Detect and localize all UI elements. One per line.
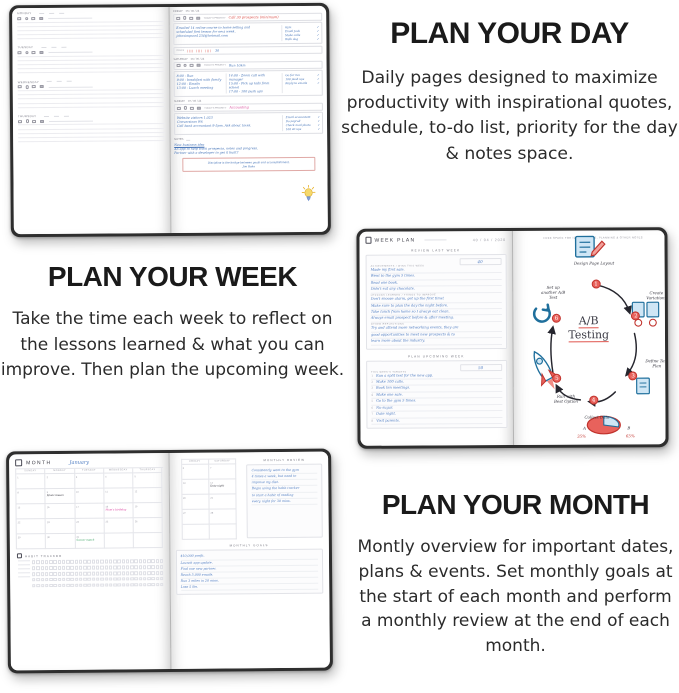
habit-cell[interactable] — [105, 577, 108, 581]
habit-row[interactable] — [32, 565, 164, 570]
habit-cell[interactable] — [88, 572, 91, 576]
date-number: 8 — [17, 492, 18, 495]
habit-cell[interactable] — [117, 577, 120, 581]
habit-cell[interactable] — [62, 583, 65, 587]
habit-cell[interactable] — [45, 566, 48, 570]
target-item[interactable]: Visit parents. — [371, 418, 502, 425]
habit-cell[interactable] — [143, 571, 146, 575]
habit-cell[interactable] — [122, 583, 125, 587]
monthly-goals-box: $10,000 profit.Launch app update.Find on… — [175, 549, 323, 595]
habit-cell[interactable] — [75, 572, 78, 576]
targets-card: 50 THIS WEEK'S TARGETS Run a split test … — [366, 360, 507, 429]
habit-cell[interactable] — [70, 572, 73, 576]
habit-cell[interactable] — [105, 583, 108, 587]
calendar-cell[interactable]: 17 — [75, 504, 104, 519]
date-number: 25 — [106, 521, 109, 524]
plan-your-month-heading: PLAN YOUR MONTH — [352, 490, 679, 519]
habit-cell[interactable] — [100, 583, 103, 587]
step-6-label: Set up another A/B Test — [538, 284, 568, 299]
habit-cell[interactable] — [92, 560, 95, 564]
habit-cell[interactable] — [58, 578, 61, 582]
review-card: 40 ACHIEVEMENTS / WINS THIS WEEK Made my… — [366, 254, 507, 349]
checkmark-icon[interactable]: ✓ — [317, 37, 320, 41]
habit-cell[interactable] — [113, 566, 116, 570]
habit-cell[interactable] — [117, 566, 120, 570]
habit-cell[interactable] — [53, 560, 56, 564]
day-row: WEDNESDAY — [13, 76, 170, 108]
habit-cell[interactable] — [100, 577, 103, 581]
habit-row[interactable] — [32, 577, 164, 582]
priority-label: TODAY'S PRIORITY — [204, 16, 226, 19]
calendar-cell[interactable]: 16 — [46, 504, 75, 519]
step-5-label: Run with Best Option — [554, 393, 578, 403]
habit-cell[interactable] — [83, 560, 86, 564]
habit-cell[interactable] — [100, 560, 103, 564]
calendar-cell[interactable]: 31Soccer match — [75, 534, 104, 549]
habit-cell[interactable] — [113, 577, 116, 581]
daily-notes-section: NOTES New business idea An app to help t… — [174, 137, 323, 155]
habit-cell[interactable] — [139, 583, 142, 587]
habit-cell[interactable] — [152, 571, 155, 575]
calendar-cell[interactable] — [134, 533, 163, 548]
calendar-cell[interactable]: 13 — [182, 480, 210, 495]
habit-cell[interactable] — [113, 583, 116, 587]
habit-cell[interactable] — [126, 560, 129, 564]
habit-cell[interactable] — [156, 559, 159, 563]
calendar-cell[interactable]: 11 — [104, 489, 133, 504]
habit-cell[interactable] — [135, 577, 138, 581]
todo-item[interactable]: Reply to emails — [285, 81, 307, 85]
habit-cell[interactable] — [62, 560, 65, 564]
calendar-cell[interactable]: 28 — [209, 510, 237, 525]
calendar-cell[interactable]: 25 — [105, 519, 134, 534]
schedule-item: 17:00 - 100 push ups — [229, 89, 279, 93]
quote-author: Jim Rohn — [185, 164, 312, 169]
habit-cell[interactable] — [75, 566, 78, 570]
habit-cell[interactable] — [105, 566, 108, 570]
habit-cell[interactable] — [49, 560, 52, 564]
habit-cell[interactable] — [32, 578, 35, 582]
calendar-icon — [39, 51, 43, 54]
habit-cell[interactable] — [32, 561, 35, 565]
habit-cell[interactable] — [147, 565, 150, 569]
entry-date: 05 / 06 / 24 — [186, 10, 199, 13]
lightbulb-icon — [302, 185, 316, 202]
date-number: 11 — [105, 491, 108, 494]
habit-cell[interactable] — [109, 560, 112, 564]
week-plan-date: 40 / 04 / 2020 — [473, 238, 506, 242]
habit-cell[interactable] — [45, 560, 48, 564]
mood-icon — [183, 16, 186, 19]
habit-cell[interactable] — [113, 571, 116, 575]
habit-cell[interactable] — [135, 583, 138, 587]
step-1-label: Design Page Layout — [573, 260, 615, 265]
mood-icon — [25, 51, 28, 54]
habit-cell[interactable] — [96, 583, 99, 587]
calendar-cell[interactable]: 4 — [104, 474, 133, 489]
habit-cell[interactable] — [54, 583, 57, 587]
plan-your-week-heading: PLAN YOUR WEEK — [0, 262, 345, 291]
date-number: 12 — [135, 491, 138, 494]
checkmark-icon[interactable]: ✓ — [317, 81, 320, 85]
date-number: 5 — [134, 476, 135, 479]
date-number: 6 — [183, 467, 184, 470]
handwritten-line: Didn't eat any chocolate. — [371, 286, 502, 293]
monthly-review-box: Consistently went to the gym4 times a we… — [247, 464, 323, 539]
weather-icon — [176, 17, 180, 20]
habit-cell[interactable] — [66, 572, 69, 576]
habit-cell[interactable] — [156, 577, 159, 581]
habit-cell[interactable] — [36, 584, 39, 588]
todo-item[interactable]: 100 sit ups — [286, 127, 302, 131]
day-name: THURSDAY — [18, 114, 36, 118]
habit-cell[interactable] — [66, 560, 69, 564]
notes-label: NOTES — [174, 138, 183, 141]
day-name: TUESDAY — [17, 45, 33, 49]
date-number: 26 — [135, 521, 138, 524]
habit-cell[interactable] — [147, 583, 150, 587]
habit-cell[interactable] — [36, 572, 39, 576]
month-right-page: FRIDAYSATURDAY671314Date night20212728 M… — [169, 452, 330, 669]
habit-cell[interactable] — [130, 565, 133, 569]
calendar-cell[interactable]: 27 — [182, 510, 210, 525]
habit-cell[interactable] — [122, 566, 125, 570]
habit-cell[interactable] — [156, 565, 159, 569]
habit-cell[interactable] — [134, 571, 137, 575]
week-planner-photo: WEEK PLAN 40 / 04 / 2020 REVIEW LAST WEE… — [356, 227, 668, 449]
habit-cell[interactable] — [147, 560, 150, 564]
date-number: 4 — [105, 476, 106, 479]
habit-cell[interactable] — [126, 571, 129, 575]
calendar-cell[interactable] — [210, 525, 238, 540]
habit-cell[interactable] — [79, 583, 82, 587]
habit-cell[interactable] — [92, 577, 95, 581]
priority-label: TODAY'S PRIORITY — [204, 106, 226, 109]
calendar-cell[interactable]: 18Mum's birthday — [104, 504, 133, 519]
habit-cell[interactable] — [96, 560, 99, 564]
habit-cell[interactable] — [156, 583, 159, 587]
week-plan-title: WEEK PLAN — [374, 237, 415, 243]
calendar-cell[interactable]: 20 — [182, 495, 210, 510]
calendar-cell[interactable]: 1 — [16, 474, 45, 489]
date-number: 3 — [76, 476, 77, 479]
calendar-cell[interactable]: 23 — [46, 519, 75, 534]
calendar-cell[interactable]: 7 — [209, 465, 237, 480]
habit-cell[interactable] — [36, 561, 39, 565]
mood-icon — [25, 120, 28, 123]
calendar-event: Mum's birthday — [105, 510, 131, 513]
habit-cell[interactable] — [139, 565, 142, 569]
habit-cell[interactable] — [143, 560, 146, 564]
calendar-cell[interactable]: 12 — [134, 488, 163, 503]
habit-cell[interactable] — [160, 577, 163, 581]
review-line: every night for 30 mins. — [252, 498, 318, 505]
plan-your-month-body: Montly overview for important dates, pla… — [352, 535, 679, 658]
habit-cell[interactable] — [134, 560, 137, 564]
habit-cell[interactable] — [96, 577, 99, 581]
habit-cell[interactable] — [147, 571, 150, 575]
habit-cell[interactable] — [87, 566, 90, 570]
calendar-cell[interactable]: 19 — [134, 503, 163, 518]
habit-cell[interactable] — [109, 577, 112, 581]
habit-cell[interactable] — [160, 571, 163, 575]
habit-cell[interactable] — [49, 572, 52, 576]
habit-cell[interactable] — [100, 566, 103, 570]
habit-cell[interactable] — [32, 584, 35, 588]
habit-cell[interactable] — [36, 566, 39, 570]
calendar-cell[interactable]: 30 — [46, 534, 75, 549]
handwritten-line: learn more about the industry. — [371, 338, 502, 345]
habit-cell[interactable] — [75, 583, 78, 587]
habit-cell[interactable] — [62, 578, 65, 582]
habit-cell[interactable] — [45, 572, 48, 576]
habit-cell[interactable] — [117, 571, 120, 575]
habit-cell[interactable] — [49, 578, 52, 582]
calendar-cell[interactable]: 15 — [17, 504, 46, 519]
habit-cell[interactable] — [70, 566, 73, 570]
habit-cell[interactable] — [88, 577, 91, 581]
habit-cell[interactable] — [160, 559, 163, 563]
calendar-cell[interactable] — [105, 534, 134, 549]
calendar-cell[interactable]: 2 — [46, 474, 75, 489]
calls-label: CALLS — [176, 49, 184, 52]
habit-cell[interactable] — [96, 572, 99, 576]
habit-cell[interactable] — [147, 577, 150, 581]
date-number: 22 — [18, 522, 21, 525]
date-number: 17 — [76, 506, 79, 509]
phone-icon — [32, 17, 36, 20]
review-last-week-title: REVIEW LAST WEEK — [360, 248, 513, 253]
habit-cell[interactable] — [32, 572, 35, 576]
habit-tracker-grid — [32, 559, 164, 587]
calendar-cell[interactable]: 5 — [133, 473, 162, 488]
habit-cell[interactable] — [134, 565, 137, 569]
calls-count: 30 — [215, 48, 219, 52]
habit-cell[interactable] — [160, 565, 163, 569]
calendar-cell[interactable]: 29 — [17, 534, 46, 549]
habit-row[interactable] — [32, 559, 164, 564]
calendar-cell[interactable]: 24 — [75, 519, 104, 534]
weather-icon — [17, 51, 21, 54]
habit-cell[interactable] — [83, 577, 86, 581]
habit-cell[interactable] — [79, 572, 82, 576]
calendar-icon — [39, 17, 43, 20]
habit-cell[interactable] — [88, 583, 91, 587]
habit-cell[interactable] — [71, 578, 74, 582]
month-calendar-right: FRIDAYSATURDAY671314Date night20212728 — [181, 458, 238, 540]
calendar-cell[interactable]: 10 — [75, 489, 104, 504]
calendar-cell[interactable] — [182, 525, 210, 540]
habit-cell[interactable] — [151, 565, 154, 569]
calendar-cell[interactable]: 8 — [16, 489, 45, 504]
day-row: MONDAY — [12, 7, 169, 39]
ab-testing-sketch: A/B Testing 1 2 3 4 5 6 Design Page Layo… — [512, 230, 666, 445]
habit-cell[interactable] — [71, 583, 74, 587]
habit-names — [18, 561, 30, 581]
date-number: 21 — [210, 497, 213, 500]
calendar-cell[interactable]: 9Music lesson — [46, 489, 75, 504]
habit-cell[interactable] — [109, 566, 112, 570]
habit-cell[interactable] — [105, 571, 108, 575]
habit-cell[interactable] — [79, 577, 82, 581]
habit-cell[interactable] — [66, 566, 69, 570]
habit-cell[interactable] — [122, 571, 125, 575]
calendar-cell[interactable]: 3 — [75, 474, 104, 489]
habit-cell[interactable] — [130, 571, 133, 575]
calendar-cell[interactable]: 6 — [182, 465, 210, 480]
habit-cell[interactable] — [109, 583, 112, 587]
habit-cell[interactable] — [41, 584, 44, 588]
habit-cell[interactable] — [66, 583, 69, 587]
habit-cell[interactable] — [156, 571, 159, 575]
habit-cell[interactable] — [130, 577, 133, 581]
mood-icon — [184, 64, 187, 67]
habit-cell[interactable] — [58, 560, 61, 564]
habit-cell[interactable] — [49, 584, 52, 588]
habit-cell[interactable] — [45, 578, 48, 582]
day-name: MONDAY — [17, 11, 31, 15]
date-number: 28 — [210, 512, 213, 515]
habit-cell[interactable] — [79, 566, 82, 570]
entry-day: FRIDAY — [173, 10, 183, 13]
daily-left-page: MONDAYTUESDAYWEDNESDAYTHURSDAY — [12, 7, 171, 234]
habit-cell[interactable] — [118, 583, 121, 587]
habit-cell[interactable] — [66, 578, 69, 582]
calendar-icon — [15, 459, 22, 466]
habit-cell[interactable] — [92, 566, 95, 570]
review-score: 40 — [459, 258, 501, 265]
habit-cell[interactable] — [96, 566, 99, 570]
daily-right-page: FRIDAY05 / 06 / 24TODAY'S PRIORITYCall 3… — [169, 6, 328, 233]
habit-cell[interactable] — [41, 572, 44, 576]
plan-your-week-body: Take the time each week to reflect on th… — [0, 307, 345, 384]
habit-cell[interactable] — [152, 583, 155, 587]
habit-cell[interactable] — [58, 566, 61, 570]
habit-cell[interactable] — [45, 584, 48, 588]
daily-quote-box: Discipline is the bridge between goals a… — [182, 157, 315, 172]
habit-cell[interactable] — [58, 572, 61, 576]
habit-cell[interactable] — [130, 583, 133, 587]
weather-icon — [17, 17, 21, 20]
habit-cell[interactable] — [126, 583, 129, 587]
habit-cell[interactable] — [41, 566, 44, 570]
date-number: 20 — [183, 497, 186, 500]
habit-cell[interactable] — [79, 560, 82, 564]
daily-entry: FRIDAY05 / 06 / 24TODAY'S PRIORITYCall 3… — [173, 9, 322, 55]
habit-cell[interactable] — [100, 572, 103, 576]
habit-cell[interactable] — [151, 560, 154, 564]
todo-item[interactable]: Walk dog — [285, 37, 298, 41]
habit-cell[interactable] — [122, 577, 125, 581]
date-number: 23 — [47, 521, 50, 524]
habit-cell[interactable] — [62, 572, 65, 576]
habit-cell[interactable] — [83, 572, 86, 576]
date-number: 27 — [183, 512, 186, 515]
habit-cell[interactable] — [53, 566, 56, 570]
habit-cell[interactable] — [49, 566, 52, 570]
habit-cell[interactable] — [83, 566, 86, 570]
habit-cell[interactable] — [32, 566, 35, 570]
habit-cell[interactable] — [58, 583, 61, 587]
calendar-cell[interactable]: 14Date night — [209, 480, 237, 495]
phone-icon — [32, 51, 36, 54]
calls-tally: |||| |||| |||| — [187, 48, 212, 52]
habit-cell[interactable] — [75, 578, 78, 582]
date-number: 15 — [18, 507, 21, 510]
calendar-event: Date night — [210, 486, 234, 489]
step-3-label: Define Test Plan — [644, 359, 666, 369]
habit-cell[interactable] — [160, 583, 163, 587]
habit-cell[interactable] — [139, 560, 142, 564]
habit-cell[interactable] — [122, 560, 125, 564]
goal-item[interactable]: Lose 5 lbs. — [181, 584, 319, 591]
habit-cell[interactable] — [143, 583, 146, 587]
entry-priority: Run 10km — [229, 63, 246, 67]
habit-cell[interactable] — [70, 560, 73, 564]
habit-cell[interactable] — [92, 572, 95, 576]
habit-cell[interactable] — [126, 577, 129, 581]
month-planner-photo: MONTH January SUNDAYMONDAYTUESDAYWEDNESD… — [6, 449, 333, 674]
habit-cell[interactable] — [75, 560, 78, 564]
product-feature-page: MONDAYTUESDAYWEDNESDAYTHURSDAY FRIDAY05 … — [0, 0, 679, 693]
water-icon — [190, 64, 194, 67]
habit-cell[interactable] — [139, 571, 142, 575]
habit-cell[interactable] — [130, 560, 133, 564]
date-number: 1 — [17, 477, 18, 480]
entry-line: Call bank accountant 9-5pm. Ask about ta… — [177, 123, 279, 128]
calendar-icon — [40, 85, 44, 88]
entry-day: SATURDAY — [174, 57, 188, 60]
habit-cell[interactable] — [117, 560, 120, 564]
habit-row[interactable] — [32, 583, 164, 588]
habit-cell[interactable] — [41, 560, 44, 564]
habit-cell[interactable] — [126, 566, 129, 570]
habit-cell[interactable] — [139, 577, 142, 581]
step-1: 1 — [591, 280, 600, 289]
plan-your-day-block: PLAN YOUR DAY Daily pages designed to ma… — [340, 18, 679, 167]
habit-cell[interactable] — [53, 578, 56, 582]
habit-row[interactable] — [32, 571, 164, 576]
habit-cell[interactable] — [143, 565, 146, 569]
step-2-label: Create Variations — [643, 290, 665, 300]
checkmark-icon[interactable]: ✓ — [318, 127, 321, 131]
entry-priority: Call 30 prospects (minimum) — [229, 15, 279, 19]
habit-cell[interactable] — [87, 560, 90, 564]
week-plan-icon — [365, 237, 371, 244]
habit-cell[interactable] — [62, 566, 65, 570]
habit-cell[interactable] — [83, 583, 86, 587]
calendar-cell[interactable]: 22 — [17, 519, 46, 534]
habit-cell[interactable] — [105, 560, 108, 564]
schedule-item: 13:00 - Lunch meeting — [177, 86, 223, 90]
habit-cell[interactable] — [143, 577, 146, 581]
habit-cell[interactable] — [41, 578, 44, 582]
calendar-cell[interactable]: 26 — [134, 518, 163, 533]
weather-icon — [18, 85, 22, 88]
date-number: 29 — [18, 537, 21, 540]
habit-cell[interactable] — [53, 572, 56, 576]
plan-your-month-block: PLAN YOUR MONTH Montly overview for impo… — [352, 490, 679, 659]
entry-date: 06 / 06 / 24 — [191, 57, 204, 60]
habit-cell[interactable] — [92, 583, 95, 587]
habit-cell[interactable] — [113, 560, 116, 564]
plan-upcoming-week-title: PLAN UPCOMING WEEK — [360, 354, 513, 359]
habit-cell[interactable] — [109, 571, 112, 575]
habit-cell[interactable] — [152, 577, 155, 581]
habit-cell[interactable] — [36, 578, 39, 582]
month-title: MONTH — [26, 460, 51, 466]
calendar-cell[interactable]: 21 — [209, 495, 237, 510]
